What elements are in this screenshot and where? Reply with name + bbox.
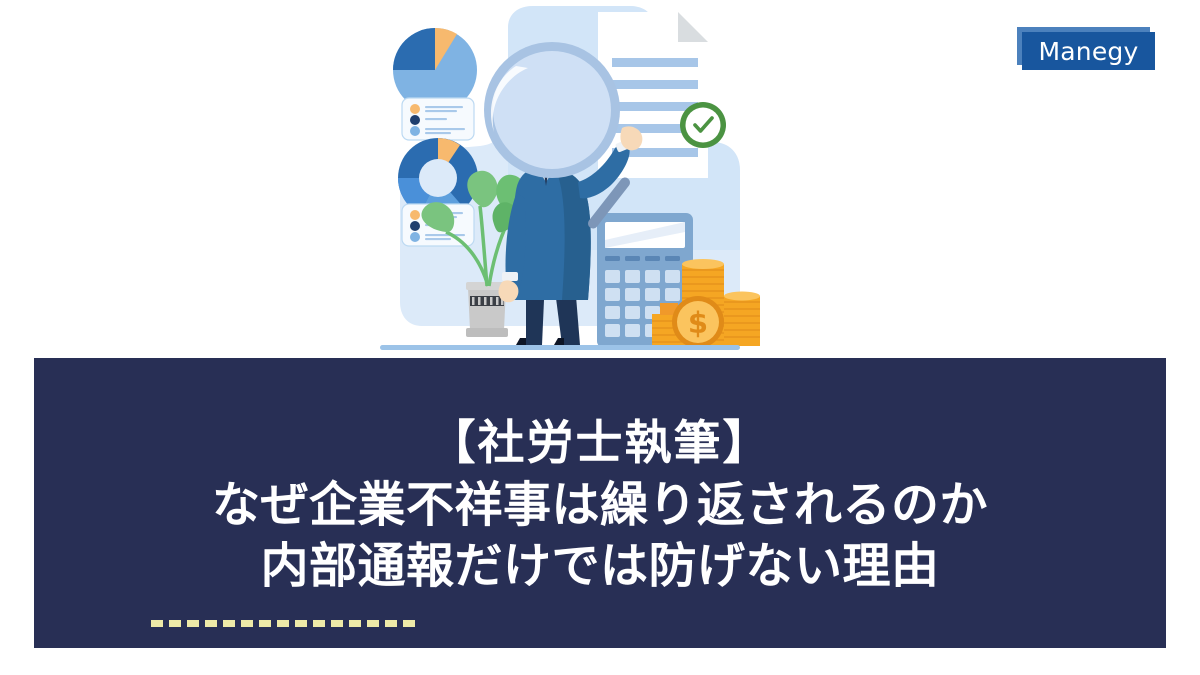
logo-text: Manegy [1022,32,1155,70]
legend-dot-lightblue [410,232,420,242]
magnifier-lens [493,51,611,169]
legend-dot-navy [410,221,420,231]
legend-dot-orange [410,104,420,114]
poster-canvas: Manegy [0,0,1200,675]
svg-text:$: $ [688,306,708,340]
green-check-badge [680,102,726,148]
legend-card-top [402,98,474,140]
manegy-logo[interactable]: Manegy [1017,27,1156,71]
leg-left [526,296,544,345]
leg-right [556,296,580,345]
title-line-2: なぜ企業不祥事は繰り返されるのか [212,475,988,536]
title-line-1: 【社労士執筆】 [429,414,772,474]
title-card: 【社労士執筆】 なぜ企業不祥事は繰り返されるのか 内部通報だけでは防げない理由 [34,358,1166,648]
legend-dot-navy [410,115,420,125]
coin-stack-right [724,292,760,347]
dollar-coin: $ [672,296,724,348]
legend-dot-lightblue [410,126,420,136]
title-text-block: 【社労士執筆】 なぜ企業不祥事は繰り返されるのか 内部通報だけでは防げない理由 [34,358,1166,648]
hero-illustration: $ [330,0,870,355]
title-underline-dash [151,620,419,627]
legend-dot-orange [410,210,420,220]
title-line-3: 内部通報だけでは防げない理由 [260,536,939,597]
floor-line [380,345,740,350]
